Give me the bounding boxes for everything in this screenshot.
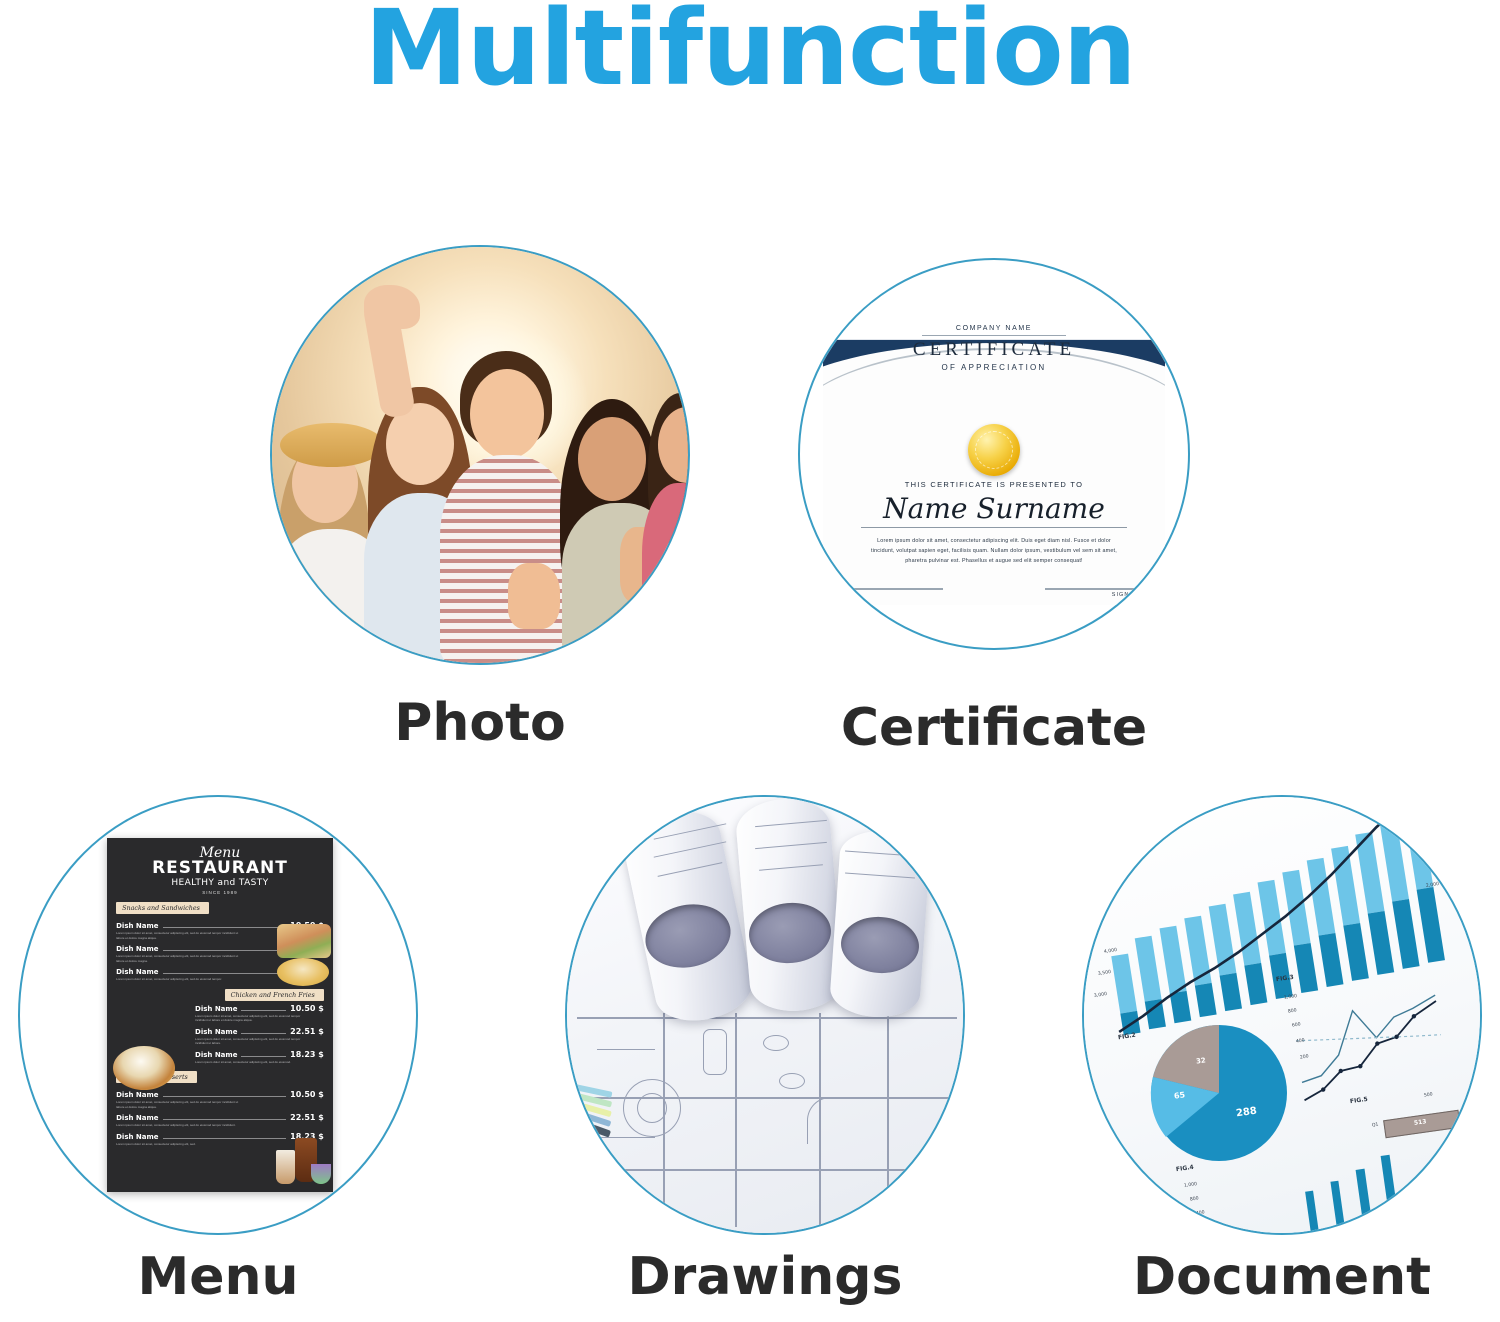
- tile-caption-document: Document: [1082, 1247, 1482, 1307]
- tile-drawings[interactable]: Drawings: [565, 795, 965, 1295]
- certificate-circle: COMPANY NAME CERTIFICATE OF APPRECIATION…: [798, 258, 1190, 650]
- certificate-signature-label: SIGNATURE: [1045, 592, 1153, 598]
- tile-caption-menu: Menu: [18, 1247, 418, 1307]
- floorplan-line: [735, 1013, 737, 1227]
- menu-item-row: Dish Name 18.23 $: [195, 1050, 324, 1059]
- menu-item-row: Dish Name 22.51 $: [116, 1113, 324, 1122]
- dish-name: Dish Name: [116, 922, 158, 930]
- ice-cream-illustration: [311, 1164, 331, 1184]
- sun-hat: [280, 423, 384, 467]
- dish-description: Lorem ipsum dolor sit amet, consectetur …: [116, 954, 245, 963]
- tile-caption-drawings: Drawings: [565, 1247, 965, 1307]
- dish-description: Lorem ipsum dolor sit amet, consectetur …: [116, 1100, 245, 1109]
- dish-name: Dish Name: [116, 968, 158, 976]
- tile-photo[interactable]: Photo: [270, 245, 690, 785]
- tile-caption-photo: Photo: [270, 693, 690, 753]
- certificate-title: CERTIFICATE: [823, 339, 1164, 361]
- leader-line: [163, 1133, 287, 1139]
- leader-line: [241, 1051, 286, 1057]
- sandwich-illustration: [277, 924, 331, 958]
- chart-pie: 288 65 32: [1144, 1015, 1294, 1165]
- leader-line: [163, 922, 287, 928]
- document-circle: FIG.2 4,000 3,500 3,000 2,500 2,000 288 …: [1082, 795, 1482, 1235]
- date-line: [835, 588, 943, 590]
- certificate-presented-to: THIS CERTIFICATE IS PRESENTED TO: [823, 480, 1164, 489]
- dish-description: Lorem ipsum dolor sit amet, consectetur …: [116, 1142, 245, 1147]
- gold-seal-icon: [968, 424, 1020, 476]
- pie-svg: [1144, 1015, 1294, 1165]
- leader-line: [163, 968, 287, 974]
- dish-price: 10.50 $: [290, 1090, 324, 1099]
- dish-price: 18.23 $: [290, 1050, 324, 1059]
- dish-name: Dish Name: [195, 1005, 237, 1013]
- bathtub-symbol: [703, 1029, 727, 1075]
- menu-item-row: Dish Name 18.23 $: [116, 1132, 324, 1141]
- certificate-subtitle: OF APPRECIATION: [823, 363, 1164, 372]
- coffee-cup-illustration: [276, 1150, 295, 1184]
- divider: [861, 527, 1127, 528]
- sink-symbol: [779, 1073, 805, 1089]
- leader-line: [163, 1114, 287, 1120]
- certificate-recipient: Name Surname: [823, 495, 1164, 523]
- person-body: [642, 483, 690, 665]
- dish-name: Dish Name: [195, 1051, 237, 1059]
- fries-illustration: [277, 958, 329, 986]
- drawings-circle: [565, 795, 965, 1235]
- leader-line: [241, 1028, 286, 1034]
- page-title: Multifunction: [0, 0, 1500, 103]
- certificate-footer: DATE SIGNATURE: [823, 588, 1164, 598]
- tile-certificate[interactable]: COMPANY NAME CERTIFICATE OF APPRECIATION…: [798, 258, 1190, 788]
- certificate-document: COMPANY NAME CERTIFICATE OF APPRECIATION…: [823, 303, 1164, 606]
- sink-symbol: [763, 1035, 789, 1051]
- menu-circle: Menu RESTAURANT HEALTHY and TASTY SINCE …: [18, 795, 418, 1235]
- floorplan-line: [577, 1169, 957, 1171]
- dish-name: Dish Name: [116, 945, 158, 953]
- leader-line: [163, 945, 287, 951]
- photo-circle: [270, 245, 690, 665]
- dish-name: Dish Name: [116, 1133, 158, 1141]
- menu-section-title: Snacks and Sandwiches: [116, 902, 209, 914]
- certificate-body-text: Lorem ipsum dolor sit amet, consectetur …: [868, 536, 1121, 566]
- menu-section-title: Chicken and French Fries: [225, 989, 324, 1001]
- dish-description: Lorem ipsum dolor sit amet, consectetur …: [116, 931, 245, 940]
- dish-price: 10.50 $: [290, 1004, 324, 1013]
- menu-tagline: HEALTHY and TASTY: [116, 878, 324, 888]
- floorplan-line: [577, 1017, 957, 1019]
- dish-name: Dish Name: [116, 1114, 158, 1122]
- leader-line: [241, 1005, 286, 1011]
- menu-item-row: Dish Name 22.51 $: [195, 1027, 324, 1036]
- stair-spiral-symbol: [637, 1093, 667, 1123]
- floorplan-line: [597, 1049, 655, 1050]
- menu-poster: Menu RESTAURANT HEALTHY and TASTY SINCE …: [107, 838, 333, 1191]
- thumbs-up-hand: [508, 563, 560, 629]
- signature-line: [1045, 588, 1153, 590]
- tile-document[interactable]: FIG.2 4,000 3,500 3,000 2,500 2,000 288 …: [1082, 795, 1482, 1295]
- menu-item-row: Dish Name 10.50 $: [195, 1004, 324, 1013]
- pie-label-32: 32: [1195, 1056, 1206, 1065]
- menu-item-row: Dish Name 10.50 $: [116, 1090, 324, 1099]
- divider: [922, 335, 1065, 336]
- dish-description: Lorem ipsum dolor sit amet, consectetur …: [195, 1014, 313, 1023]
- menu-main-title: RESTAURANT: [116, 860, 324, 878]
- dish-price: 22.51 $: [290, 1113, 324, 1122]
- floorplan-line: [887, 1013, 889, 1213]
- dish-description: Lorem ipsum dolor sit amet, consectetur …: [195, 1037, 313, 1046]
- dish-name: Dish Name: [116, 1091, 158, 1099]
- hand: [364, 285, 420, 329]
- dish-description: Lorem ipsum dolor sit amet, consectetur …: [116, 977, 245, 982]
- pie-label-65: 65: [1173, 1090, 1185, 1100]
- certificate-date-label: DATE: [835, 592, 943, 598]
- tile-caption-certificate: Certificate: [798, 698, 1190, 758]
- person-head: [470, 369, 544, 459]
- fig5-category: Q1: [1372, 1123, 1379, 1129]
- dish-name: Dish Name: [195, 1028, 237, 1036]
- person-head: [578, 417, 646, 501]
- person-body: [440, 455, 576, 665]
- certificate-company: COMPANY NAME: [823, 325, 1164, 332]
- certificate-header-area: COMPANY NAME CERTIFICATE OF APPRECIATION: [823, 303, 1164, 436]
- floorplan-line: [597, 1137, 655, 1138]
- dish-description: Lorem ipsum dolor sit amet, consectetur …: [116, 1123, 245, 1128]
- door-swing-symbol: [807, 1097, 854, 1144]
- leader-line: [163, 1091, 287, 1097]
- dish-price: 22.51 $: [290, 1027, 324, 1036]
- tile-menu[interactable]: Menu RESTAURANT HEALTHY and TASTY SINCE …: [18, 795, 418, 1295]
